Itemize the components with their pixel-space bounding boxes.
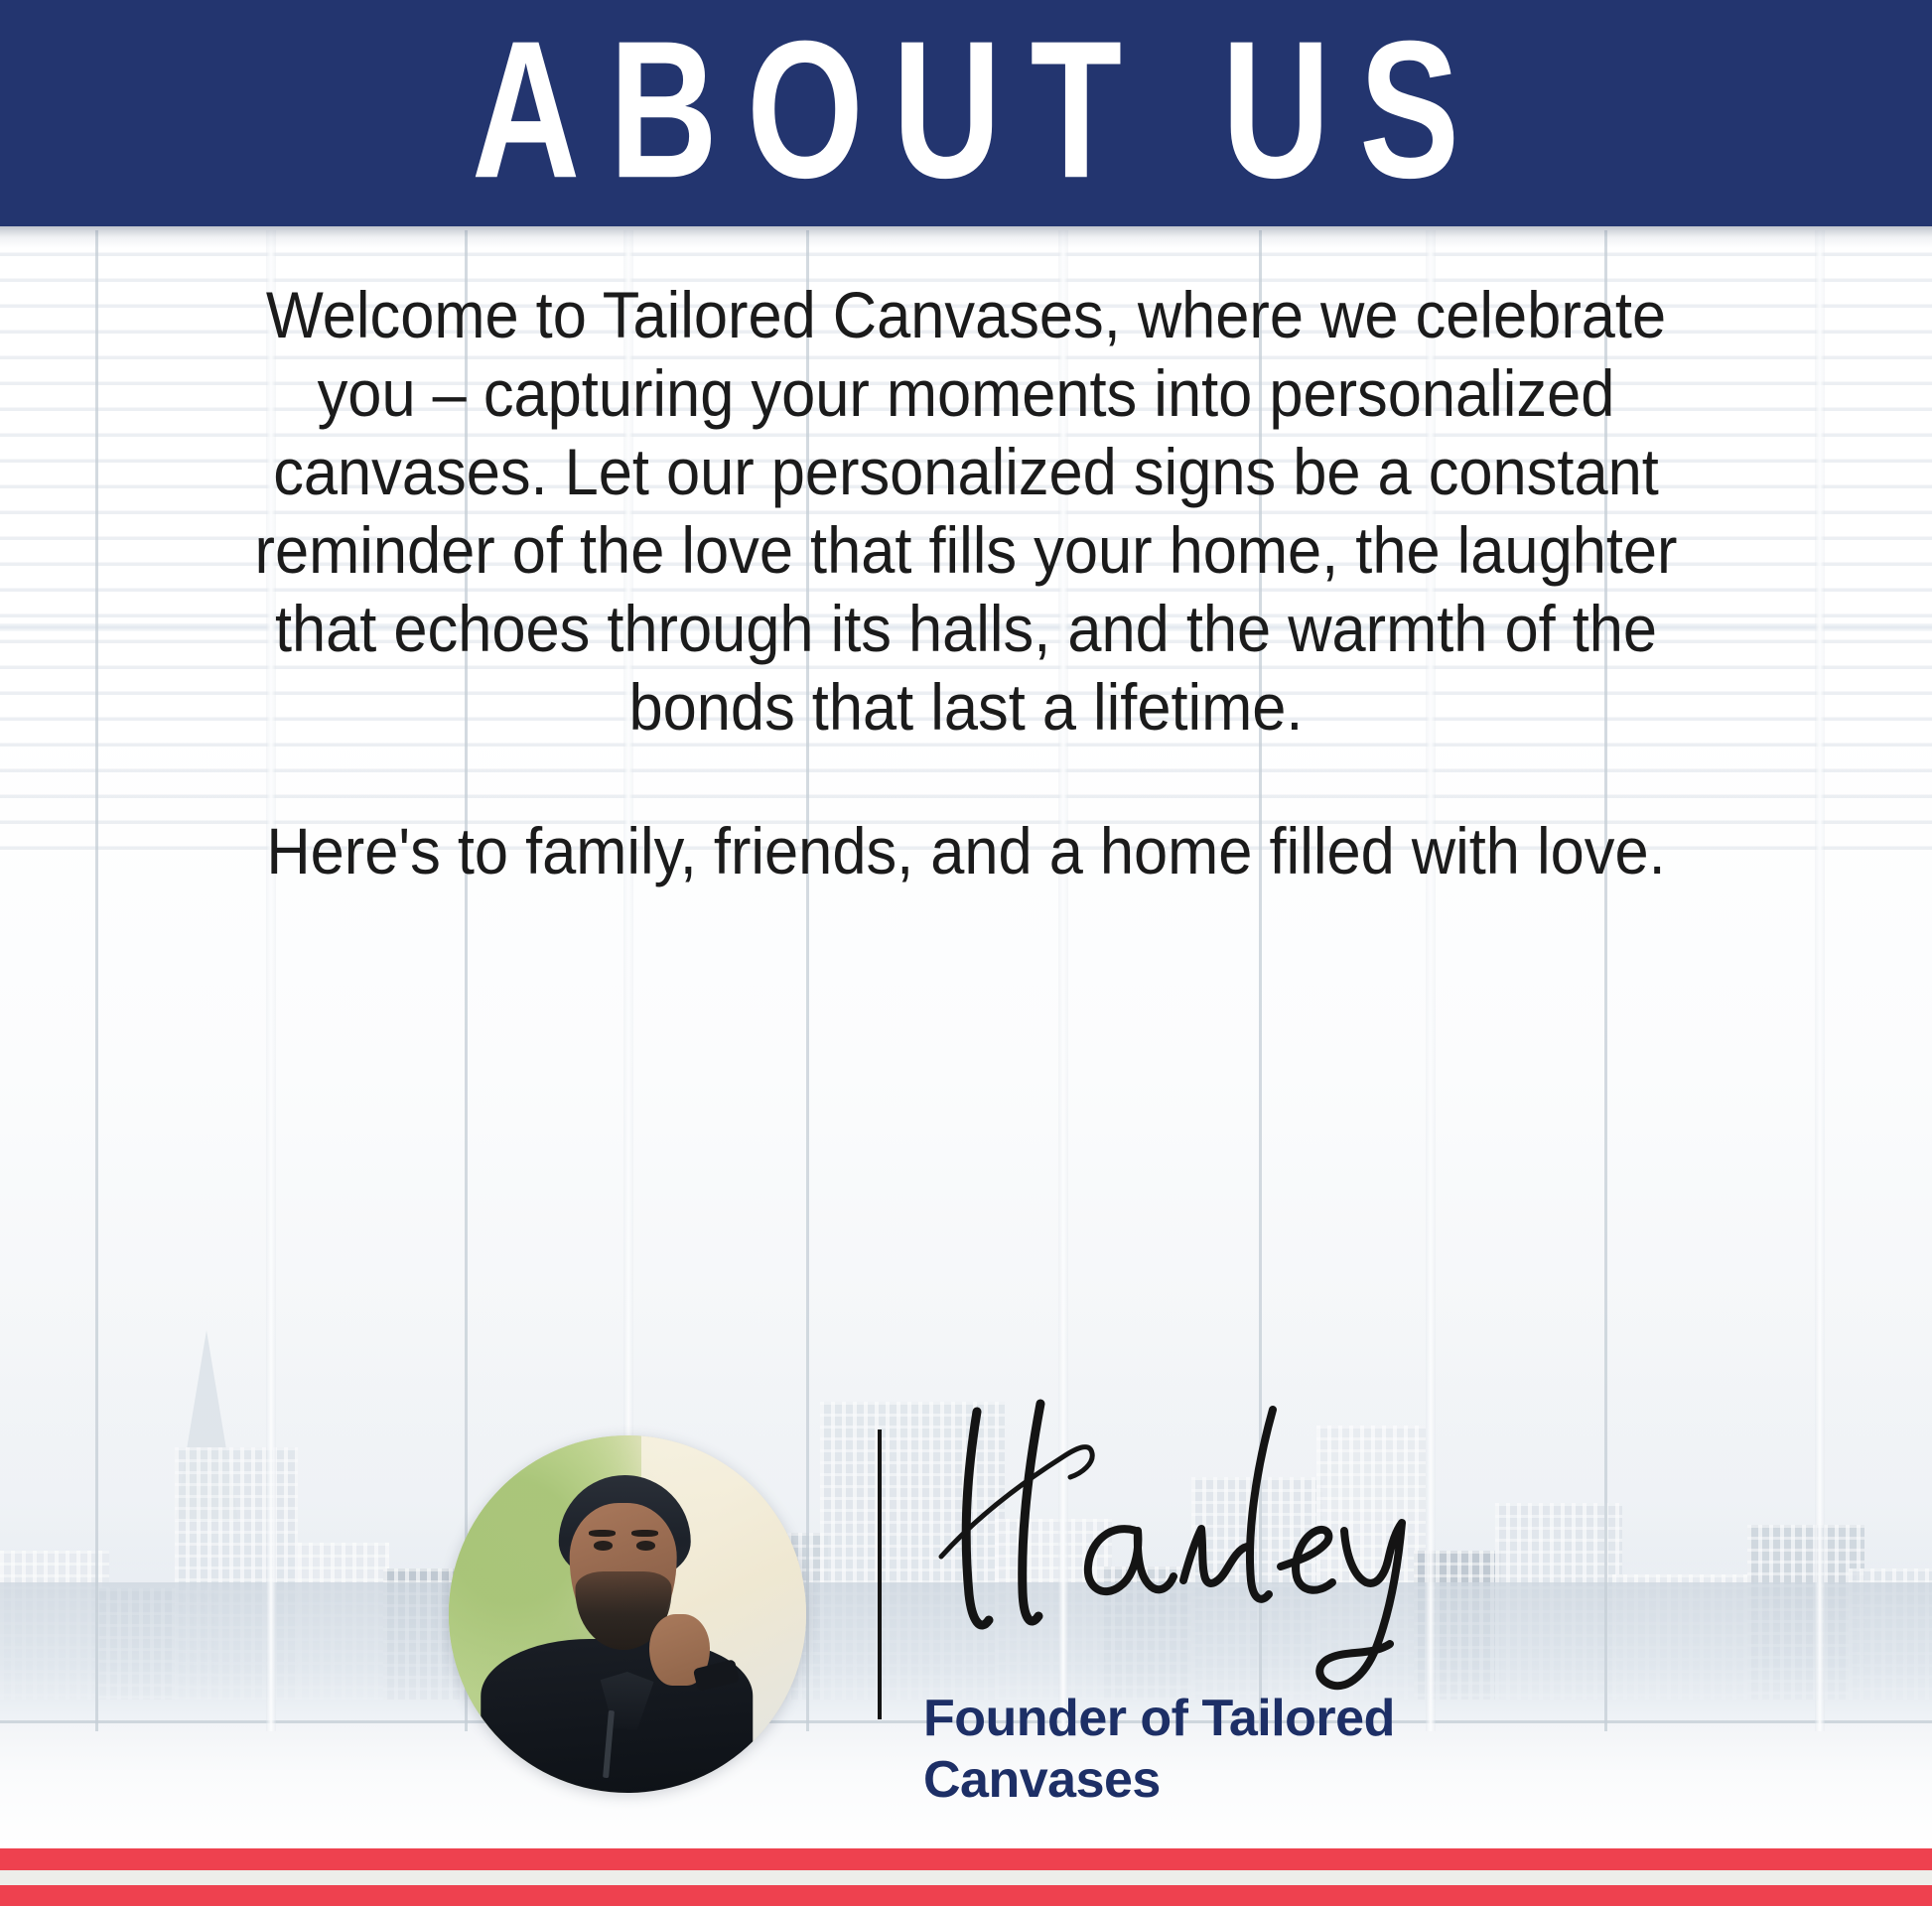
paragraph-spacer [241, 747, 1691, 812]
avatar [449, 1435, 806, 1793]
about-paragraph-1: Welcome to Tailored Canvases, where we c… [241, 276, 1691, 747]
footer-stripe-top [0, 1848, 1932, 1870]
signature-harley [923, 1382, 1479, 1709]
founder-title-line-2: Canvases [923, 1749, 1559, 1811]
avatar-eyebrow-left [589, 1530, 616, 1537]
about-paragraph-2: Here's to family, friends, and a home fi… [241, 812, 1691, 890]
signature-icon [923, 1382, 1479, 1709]
founder-block: Founder of Tailored Canvases [0, 1390, 1932, 1856]
footer-stripe-gap [0, 1870, 1932, 1885]
avatar-eye-right [636, 1541, 655, 1550]
about-us-poster: ABOUT US Welcome to Tailored Canvases, w… [0, 0, 1932, 1906]
founder-title-line-1: Founder of Tailored [923, 1688, 1559, 1749]
footer-stripe-bottom [0, 1885, 1932, 1906]
page-title: ABOUT US [443, 12, 1489, 207]
avatar-eye-left [594, 1541, 613, 1550]
avatar-eyebrow-right [631, 1530, 658, 1537]
header-drop-shadow [0, 226, 1932, 248]
about-us-copy: Welcome to Tailored Canvases, where we c… [241, 276, 1691, 890]
founder-title: Founder of Tailored Canvases [923, 1688, 1559, 1811]
header-banner: ABOUT US [0, 0, 1932, 226]
signature-divider [878, 1429, 882, 1719]
